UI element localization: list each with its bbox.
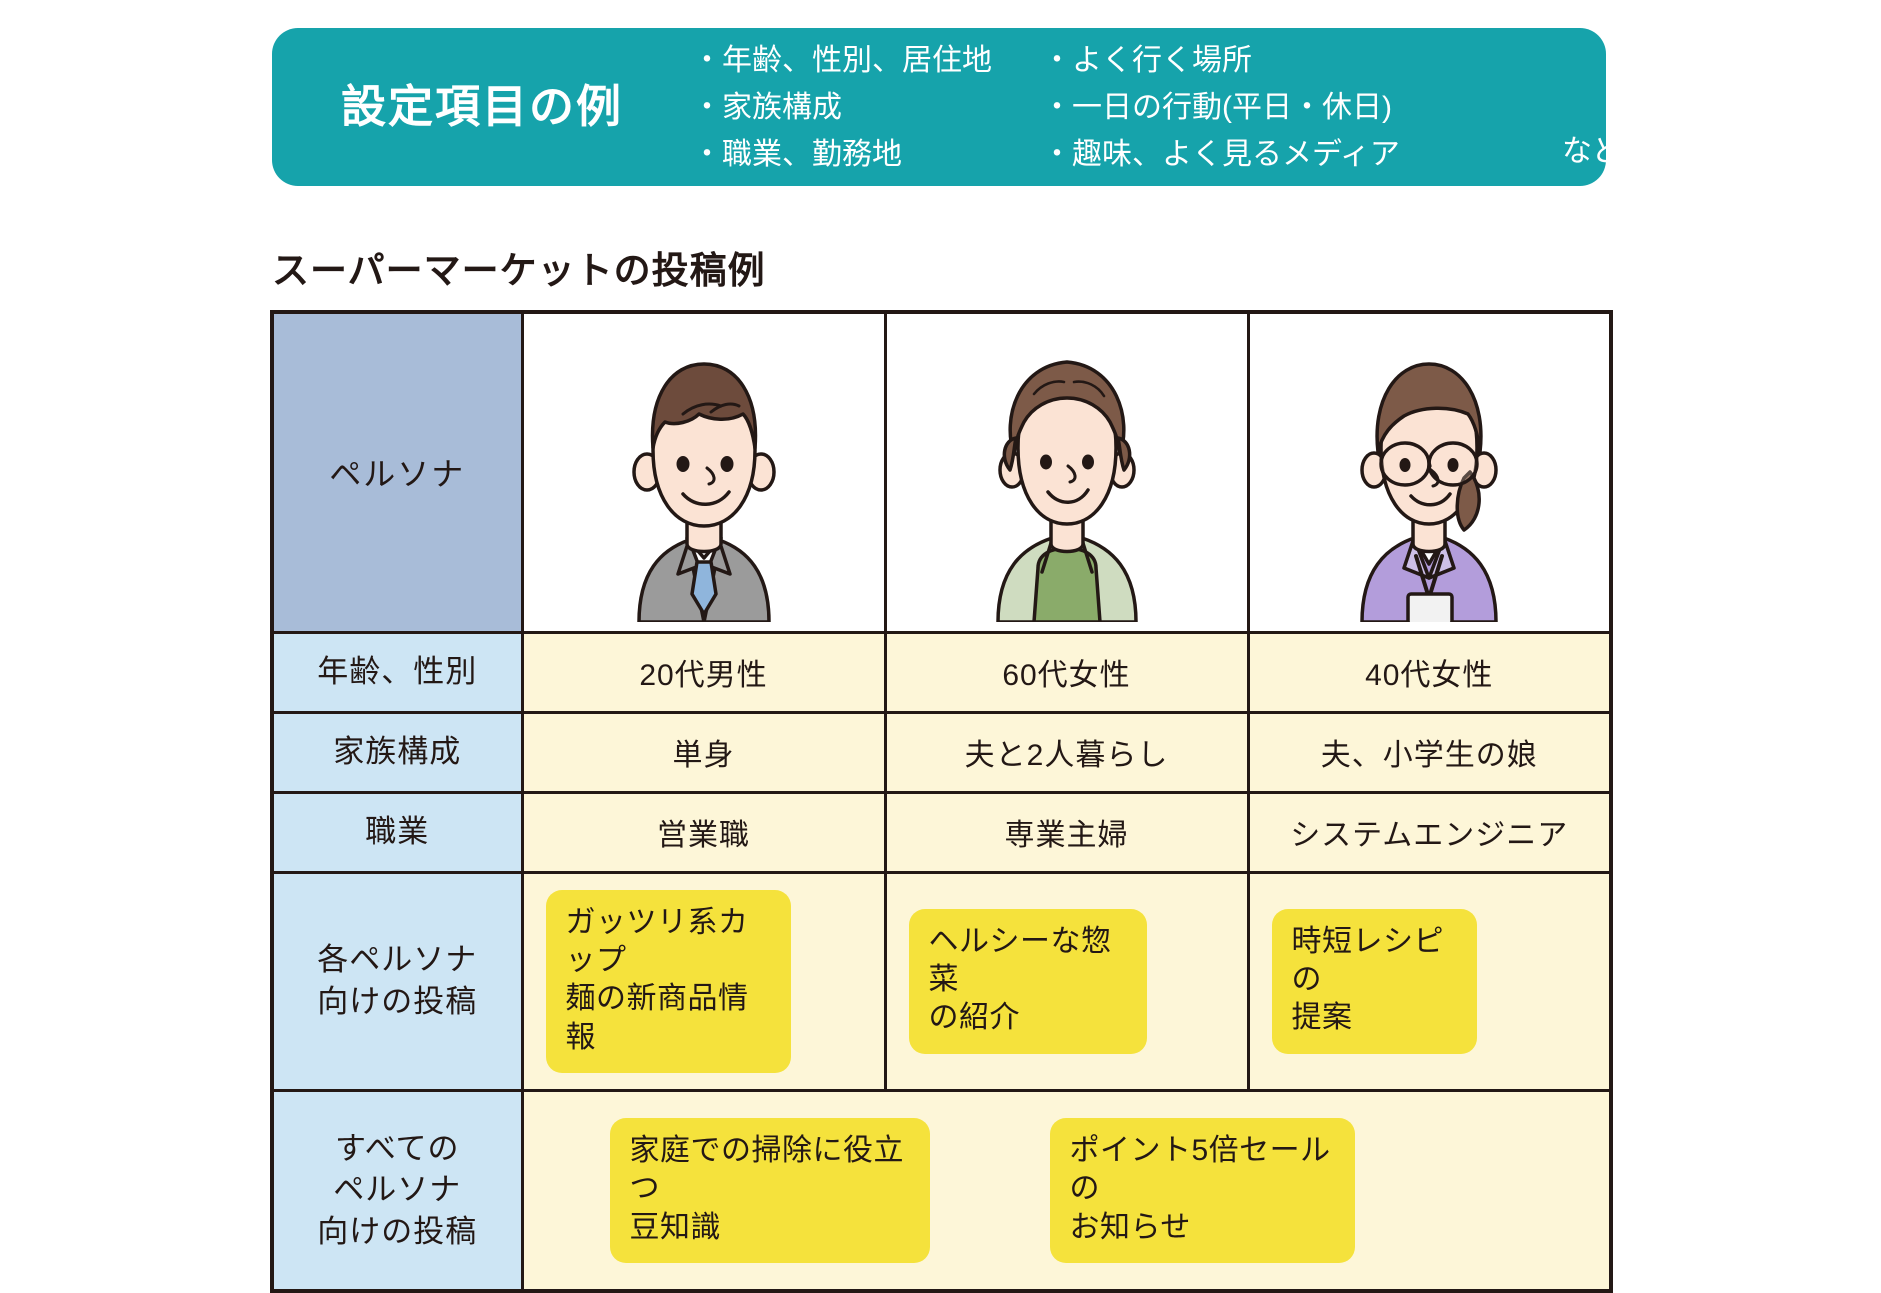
row-label-each-persona-post: 各ペルソナ 向けの投稿 [272,872,522,1091]
post-bubble-cupnoodle: ガッツリ系カップ 麺の新商品情報 [546,890,791,1074]
post-bubble-cleaning-tips: 家庭での掃除に役立つ 豆知識 [610,1118,930,1263]
banner-item-age-gender-residence: ・年齢、性別、居住地 [692,41,1042,80]
row-label-occupation: 職業 [272,792,522,872]
post-bubble-quick-recipe-line2: 提案 [1292,999,1457,1037]
post-bubble-healthy-deli: ヘルシーな惣菜 の紹介 [909,909,1147,1054]
post-bubble-point-sale-line2: お知らせ [1070,1209,1335,1247]
banner-item-hobbies-media: ・趣味、よく見るメディア [1042,135,1562,174]
table-row-age-gender: 年齢、性別 20代男性 60代女性 40代女性 [272,632,1611,712]
cell-occupation-3: システムエンジニア [1248,792,1611,872]
cell-post-1: ガッツリ系カップ 麺の新商品情報 [522,872,885,1091]
section-title: スーパーマーケットの投稿例 [272,240,766,294]
banner-title: 設定項目の例 [272,82,692,132]
cell-occupation-1: 営業職 [522,792,885,872]
row-label-all-persona-post-line1: すべての [275,1128,520,1170]
cell-post-2: ヘルシーな惣菜 の紹介 [885,872,1248,1091]
table-row-persona: ペルソナ [272,312,1611,632]
table-row-occupation: 職業 営業職 専業主婦 システムエンジニア [272,792,1611,872]
banner-item-lists: ・年齢、性別、居住地 ・家族構成 ・職業、勤務地 ・よく行く場所 ・一日の行動(… [692,41,1652,174]
row-label-each-persona-post-line2: 向けの投稿 [275,981,520,1023]
cell-family-3: 夫、小学生の娘 [1248,712,1611,792]
post-bubble-cupnoodle-line2: 麺の新商品情報 [566,980,771,1057]
banner-column-etc: など [1562,41,1622,174]
cell-family-2: 夫と2人暮らし [885,712,1248,792]
post-bubble-quick-recipe: 時短レシピの 提案 [1272,909,1477,1054]
post-bubble-healthy-deli-line1: ヘルシーな惣菜 [929,923,1127,1000]
row-label-family: 家族構成 [272,712,522,792]
row-label-all-persona-post: すべての ペルソナ 向けの投稿 [272,1091,522,1291]
post-bubble-cleaning-tips-line1: 家庭での掃除に役立つ [630,1132,910,1209]
banner-item-occupation-workplace: ・職業、勤務地 [692,135,1042,174]
cell-all-persona-posts: 家庭での掃除に役立つ 豆知識 ポイント5倍セールの お知らせ [522,1091,1611,1291]
row-label-age-gender: 年齢、性別 [272,632,522,712]
table-row-all-persona-post: すべての ペルソナ 向けの投稿 家庭での掃除に役立つ 豆知識 ポイント5倍セール… [272,1091,1611,1291]
cell-post-3: 時短レシピの 提案 [1248,872,1611,1091]
all-persona-post-bubbles: 家庭での掃除に役立つ 豆知識 ポイント5倍セールの お知らせ [550,1118,1584,1263]
young-businessman-avatar [579,322,829,622]
persona-table: ペルソナ [270,310,1613,1293]
row-label-each-persona-post-line1: 各ペルソナ [275,939,520,981]
cell-family-1: 単身 [522,712,885,792]
post-bubble-cupnoodle-line1: ガッツリ系カップ [566,904,771,981]
banner-item-family-structure: ・家族構成 [692,88,1042,127]
row-label-persona: ペルソナ [272,312,522,632]
persona-avatar-cell-3 [1248,312,1611,632]
banner-item-frequent-places: ・よく行く場所 [1042,41,1562,80]
cell-occupation-2: 専業主婦 [885,792,1248,872]
post-bubble-point-sale-line1: ポイント5倍セールの [1070,1132,1335,1209]
cell-age-gender-2: 60代女性 [885,632,1248,712]
senior-housewife-avatar [942,322,1192,622]
banner-etc-label: など [1562,126,1622,170]
cell-age-gender-1: 20代男性 [522,632,885,712]
table-row-family: 家族構成 単身 夫と2人暮らし 夫、小学生の娘 [272,712,1611,792]
post-bubble-healthy-deli-line2: の紹介 [929,999,1127,1037]
banner-column-left: ・年齢、性別、居住地 ・家族構成 ・職業、勤務地 [692,41,1042,174]
banner-column-right: ・よく行く場所 ・一日の行動(平日・休日) ・趣味、よく見るメディア [1042,41,1562,174]
post-bubble-point-sale: ポイント5倍セールの お知らせ [1050,1118,1355,1263]
table-row-each-persona-post: 各ペルソナ 向けの投稿 ガッツリ系カップ 麺の新商品情報 ヘルシーな惣菜 の紹介… [272,872,1611,1091]
persona-avatar-cell-2 [885,312,1248,632]
post-bubble-quick-recipe-line1: 時短レシピの [1292,923,1457,1000]
cell-age-gender-3: 40代女性 [1248,632,1611,712]
banner-item-daily-behavior: ・一日の行動(平日・休日) [1042,88,1562,127]
persona-avatar-cell-1 [522,312,885,632]
settings-example-banner: 設定項目の例 ・年齢、性別、居住地 ・家族構成 ・職業、勤務地 ・よく行く場所 … [272,28,1606,186]
row-label-all-persona-post-line3: 向けの投稿 [275,1211,520,1253]
system-engineer-woman-avatar [1304,322,1554,622]
post-bubble-cleaning-tips-line2: 豆知識 [630,1209,910,1247]
row-label-all-persona-post-line2: ペルソナ [275,1169,520,1211]
